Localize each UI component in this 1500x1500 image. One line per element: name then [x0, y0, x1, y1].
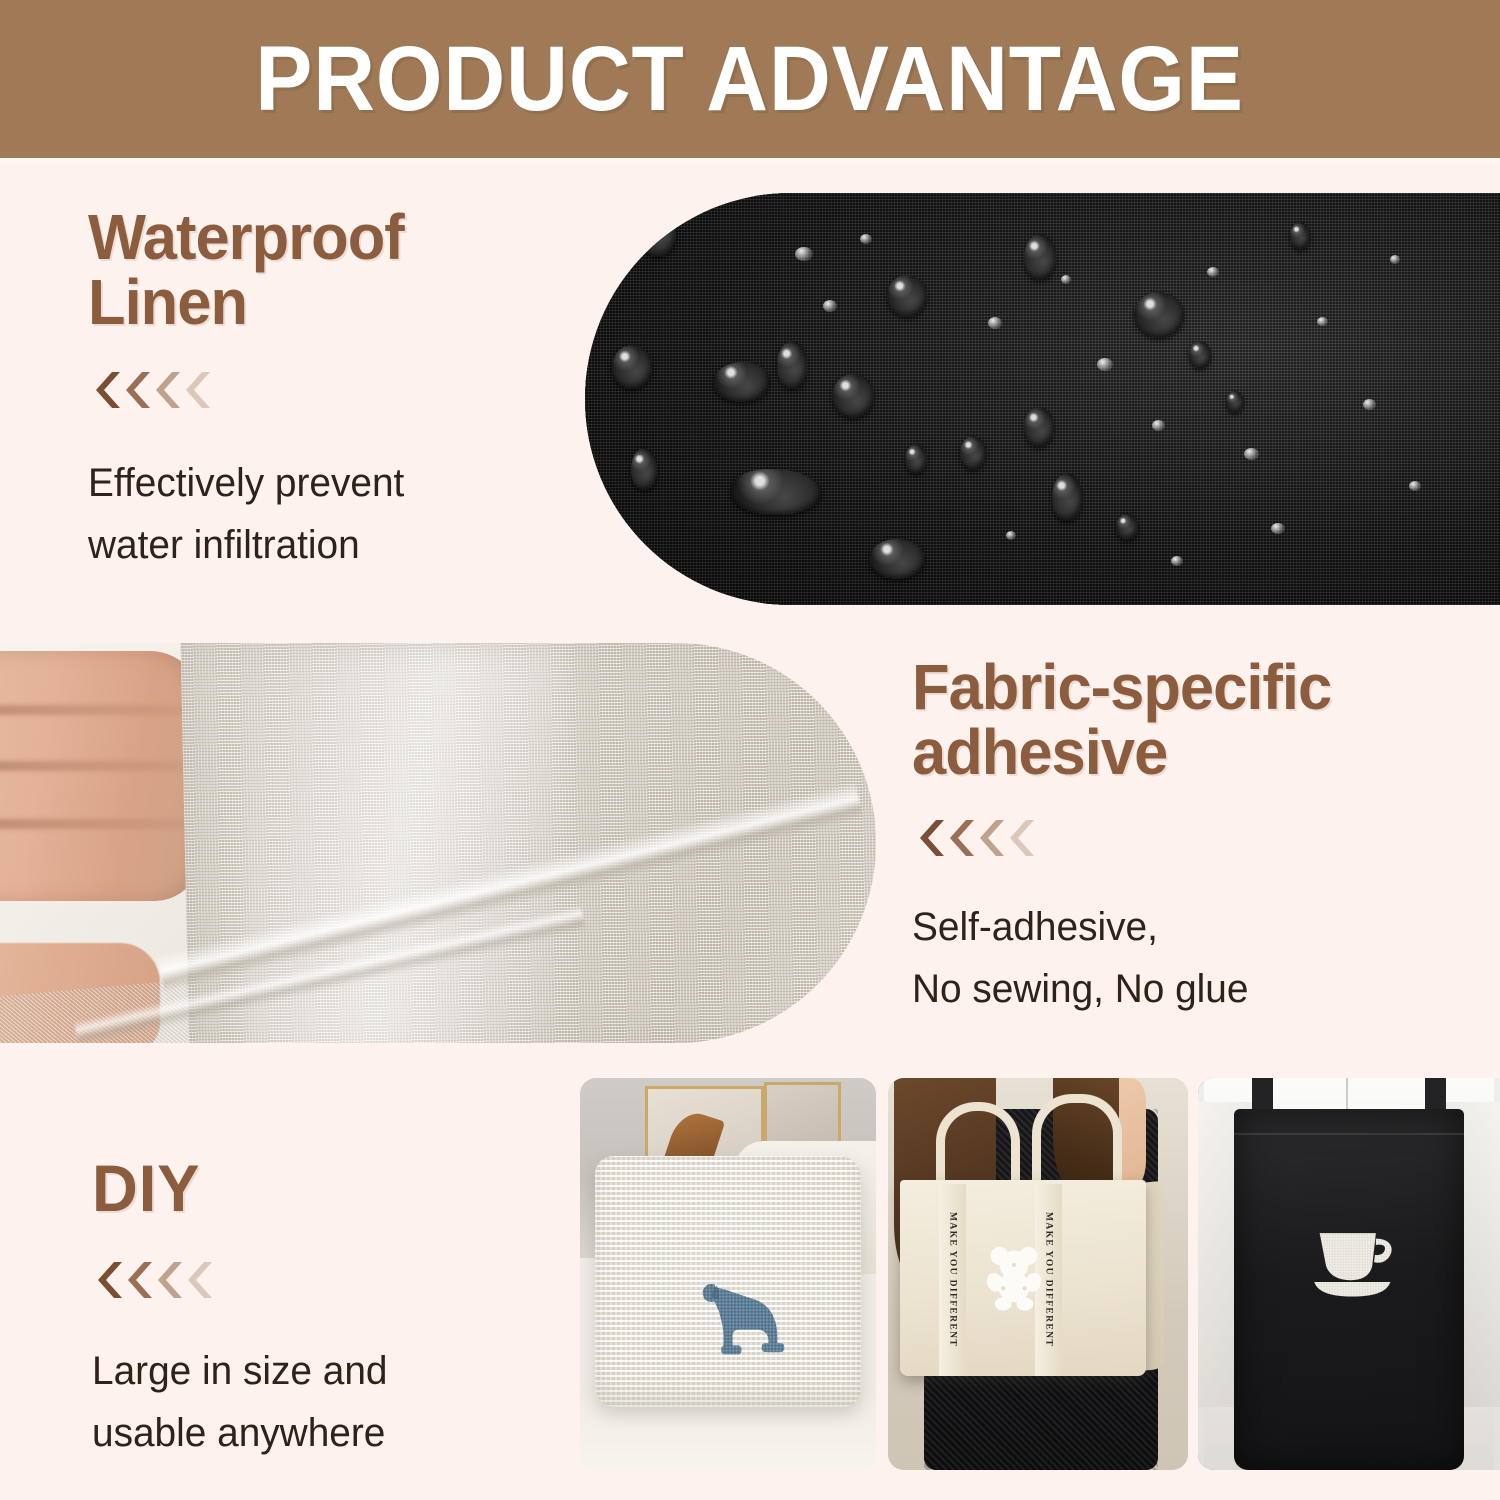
water-drop	[869, 539, 925, 579]
water-drop	[640, 205, 676, 257]
dog-silhouette-patch	[692, 1250, 804, 1375]
section-heading: Waterproof Linen	[88, 205, 539, 336]
water-drop	[1024, 234, 1056, 280]
chevron-left-icon	[978, 818, 1008, 858]
gallery-photo-tote-bag: MAKE YOU DIFFERENT MAKE YOU DIFFERENT	[888, 1078, 1188, 1470]
chevron-left-icon	[918, 818, 948, 858]
chevron-left-icon	[126, 1260, 156, 1300]
water-drop	[1189, 341, 1211, 369]
chevron-left-icon	[96, 1260, 126, 1300]
section-waterproof-linen: Waterproof Linen Effectively prevent wat…	[88, 205, 558, 576]
gallery-photo-pillow	[580, 1078, 876, 1470]
section-description: Effectively prevent water infiltration	[88, 452, 544, 576]
water-mist	[1152, 420, 1165, 431]
strap-text: MAKE YOU DIFFERENT	[1044, 1212, 1054, 1347]
chevrons-left-icon	[96, 1260, 542, 1300]
water-mist	[1409, 481, 1421, 491]
water-mist	[1390, 255, 1400, 264]
finger-crease	[0, 819, 190, 829]
linen-fabric-photo	[0, 643, 876, 1043]
bag-strap-left: MAKE YOU DIFFERENT	[939, 1184, 966, 1376]
chevron-left-icon	[94, 370, 124, 410]
apron-seam	[1234, 1133, 1464, 1135]
water-mist	[1271, 523, 1285, 534]
gallery-photo-apron	[1198, 1078, 1500, 1470]
chevron-left-icon	[948, 818, 978, 858]
banner-underline-divider	[0, 158, 1500, 165]
section-heading: Fabric-specific adhesive	[912, 655, 1450, 786]
teacup-silhouette-patch	[1307, 1219, 1398, 1305]
page-title: PRODUCT ADVANTAGE	[256, 33, 1245, 125]
bear-silhouette-patch	[984, 1235, 1044, 1321]
water-mist	[1363, 399, 1376, 410]
water-drop	[1134, 292, 1184, 338]
water-mist	[1006, 531, 1016, 540]
water-mist	[795, 247, 813, 261]
chevron-left-icon	[1008, 818, 1038, 858]
water-mist	[1317, 317, 1328, 326]
water-drop	[1116, 514, 1138, 540]
section-description: Self-adhesive, No sewing, No glue	[912, 896, 1455, 1020]
finger-crease	[0, 705, 190, 715]
chevron-left-icon	[154, 370, 184, 410]
section-heading: DIY	[92, 1155, 524, 1222]
water-drop	[1052, 473, 1082, 521]
chevron-left-icon	[156, 1260, 186, 1300]
hand	[0, 651, 210, 901]
water-drop	[1226, 391, 1244, 413]
water-drop	[731, 469, 821, 515]
water-mist	[823, 300, 837, 312]
water-mist	[988, 317, 1002, 329]
section-fabric-specific-adhesive: Fabric-specific adhesive Self-adhesive, …	[912, 655, 1472, 1020]
section-description: Large in size and usable anywhere	[92, 1340, 529, 1464]
water-drop	[631, 448, 657, 490]
finger-crease	[0, 761, 190, 771]
chevron-left-icon	[186, 1260, 216, 1300]
water-mist	[860, 234, 872, 244]
water-drop	[1290, 222, 1310, 250]
chevron-left-icon	[184, 370, 214, 410]
header-banner: PRODUCT ADVANTAGE	[0, 0, 1500, 158]
waterproof-fabric-photo	[585, 193, 1500, 605]
chevron-left-icon	[124, 370, 154, 410]
water-drop	[832, 374, 874, 418]
section-diy: DIY Large in size and usable anywhere	[92, 1155, 542, 1464]
strap-text: MAKE YOU DIFFERENT	[948, 1212, 958, 1347]
chevrons-left-icon	[94, 370, 558, 410]
product-advantage-infographic: PRODUCT ADVANTAGE	[0, 0, 1500, 1500]
water-drop	[777, 341, 807, 389]
chevrons-left-icon	[918, 818, 1472, 858]
water-drop	[713, 362, 769, 402]
water-mist	[1171, 556, 1183, 566]
